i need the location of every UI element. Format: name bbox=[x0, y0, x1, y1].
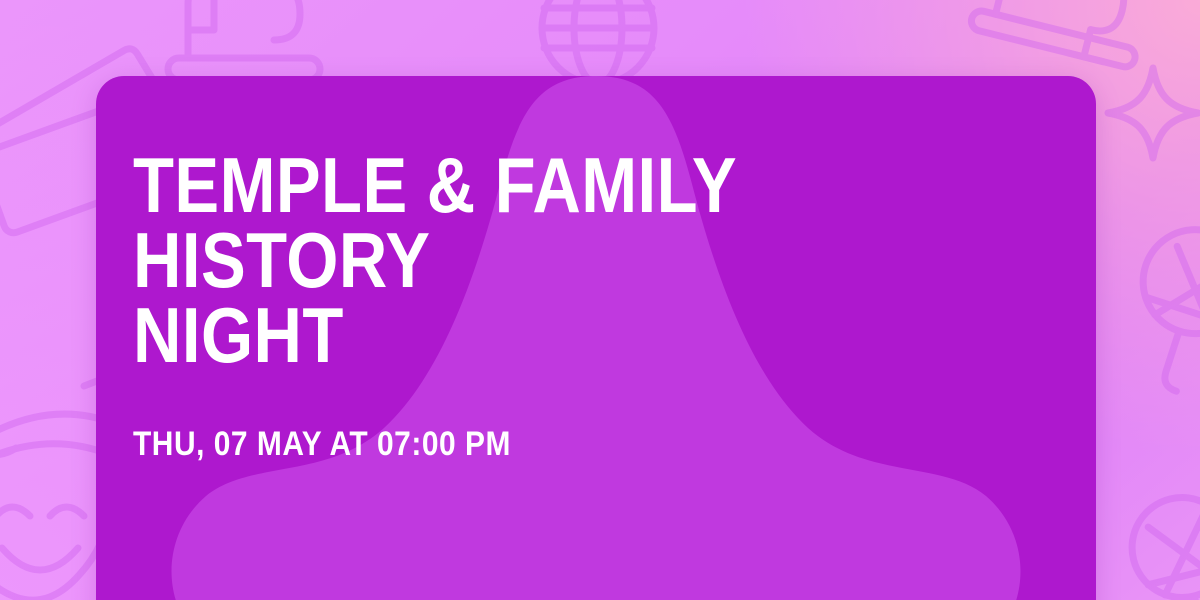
event-title: Temple & Family History Night bbox=[133, 76, 927, 373]
event-poster: Temple & Family History Night Thu, 07 Ma… bbox=[0, 0, 1200, 600]
balloon-icon bbox=[1122, 218, 1200, 418]
event-date: Thu, 07 May at 07:00 PM bbox=[133, 373, 945, 464]
balloon-icon bbox=[1104, 490, 1200, 600]
event-card: Temple & Family History Night Thu, 07 Ma… bbox=[96, 76, 1096, 600]
sparkle-icon bbox=[1098, 58, 1200, 168]
card-content: Temple & Family History Night Thu, 07 Ma… bbox=[133, 76, 1056, 464]
